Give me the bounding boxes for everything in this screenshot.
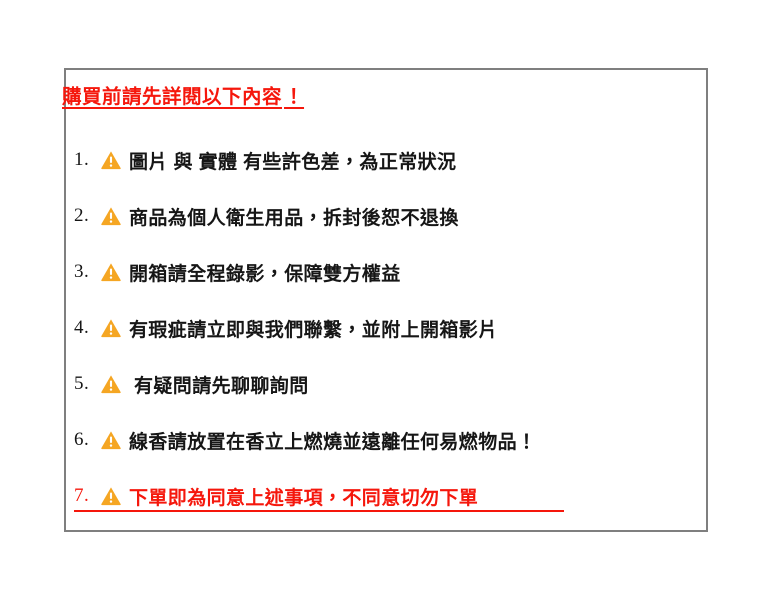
warning-triangle-icon [100, 149, 122, 171]
notice-item-2: 2. 商品為個人衛生用品，拆封後恕不退換 [74, 188, 706, 244]
notice-title-exclamation: ！ [282, 86, 304, 108]
warning-triangle-icon [100, 261, 122, 283]
notice-title: 購買前請先詳閱以下內容！ [62, 84, 304, 110]
notice-item-text: 開箱請全程錄影，保障雙方權益 [129, 259, 401, 286]
notice-item-7: 7. 下單即為同意上述事項，不同意切勿下單 [74, 468, 706, 524]
notice-item-number: 6. [74, 429, 100, 451]
notice-item-6: 6. 線香請放置在香立上燃燒並遠離任何易燃物品！ [74, 412, 706, 468]
notice-item-text: 有瑕疵請立即與我們聯繫，並附上開箱影片 [129, 315, 498, 342]
notice-item-number: 5. [74, 373, 100, 395]
notice-item-3: 3. 開箱請全程錄影，保障雙方權益 [74, 244, 706, 300]
notice-item-text: 下單即為同意上述事項，不同意切勿下單 [129, 483, 478, 510]
notice-item-text: 有疑問請先聊聊詢問 [134, 371, 309, 398]
notice-item-5: 5. 有疑問請先聊聊詢問 [74, 356, 706, 412]
warning-triangle-icon [100, 485, 122, 507]
notice-item-text: 線香請放置在香立上燃燒並遠離任何易燃物品！ [129, 427, 536, 454]
notice-item-text: 商品為個人衛生用品，拆封後恕不退換 [129, 203, 459, 230]
warning-triangle-icon [100, 205, 122, 227]
notice-item-4: 4. 有瑕疵請立即與我們聯繫，並附上開箱影片 [74, 300, 706, 356]
notice-item-1: 1. 圖片 與 實體 有些許色差，為正常狀況 [74, 132, 706, 188]
warning-triangle-icon [100, 373, 122, 395]
notice-item-number: 7. [74, 485, 100, 507]
notice-item-underline [74, 510, 564, 512]
notice-item-number: 4. [74, 317, 100, 339]
warning-triangle-icon [100, 317, 122, 339]
notice-item-number: 2. [74, 205, 100, 227]
notice-item-number: 3. [74, 261, 100, 283]
notice-item-text: 圖片 與 實體 有些許色差，為正常狀況 [129, 147, 456, 174]
notice-box: 購買前請先詳閱以下內容！ 1. 圖片 與 實體 有些許色差，為正常狀況 2. [64, 68, 708, 532]
warning-triangle-icon [100, 429, 122, 451]
page-root: 購買前請先詳閱以下內容！ 1. 圖片 與 實體 有些許色差，為正常狀況 2. [0, 0, 773, 597]
notice-item-number: 1. [74, 149, 100, 171]
notice-list: 1. 圖片 與 實體 有些許色差，為正常狀況 2. [74, 132, 706, 524]
notice-title-text: 購買前請先詳閱以下內容 [62, 86, 282, 108]
